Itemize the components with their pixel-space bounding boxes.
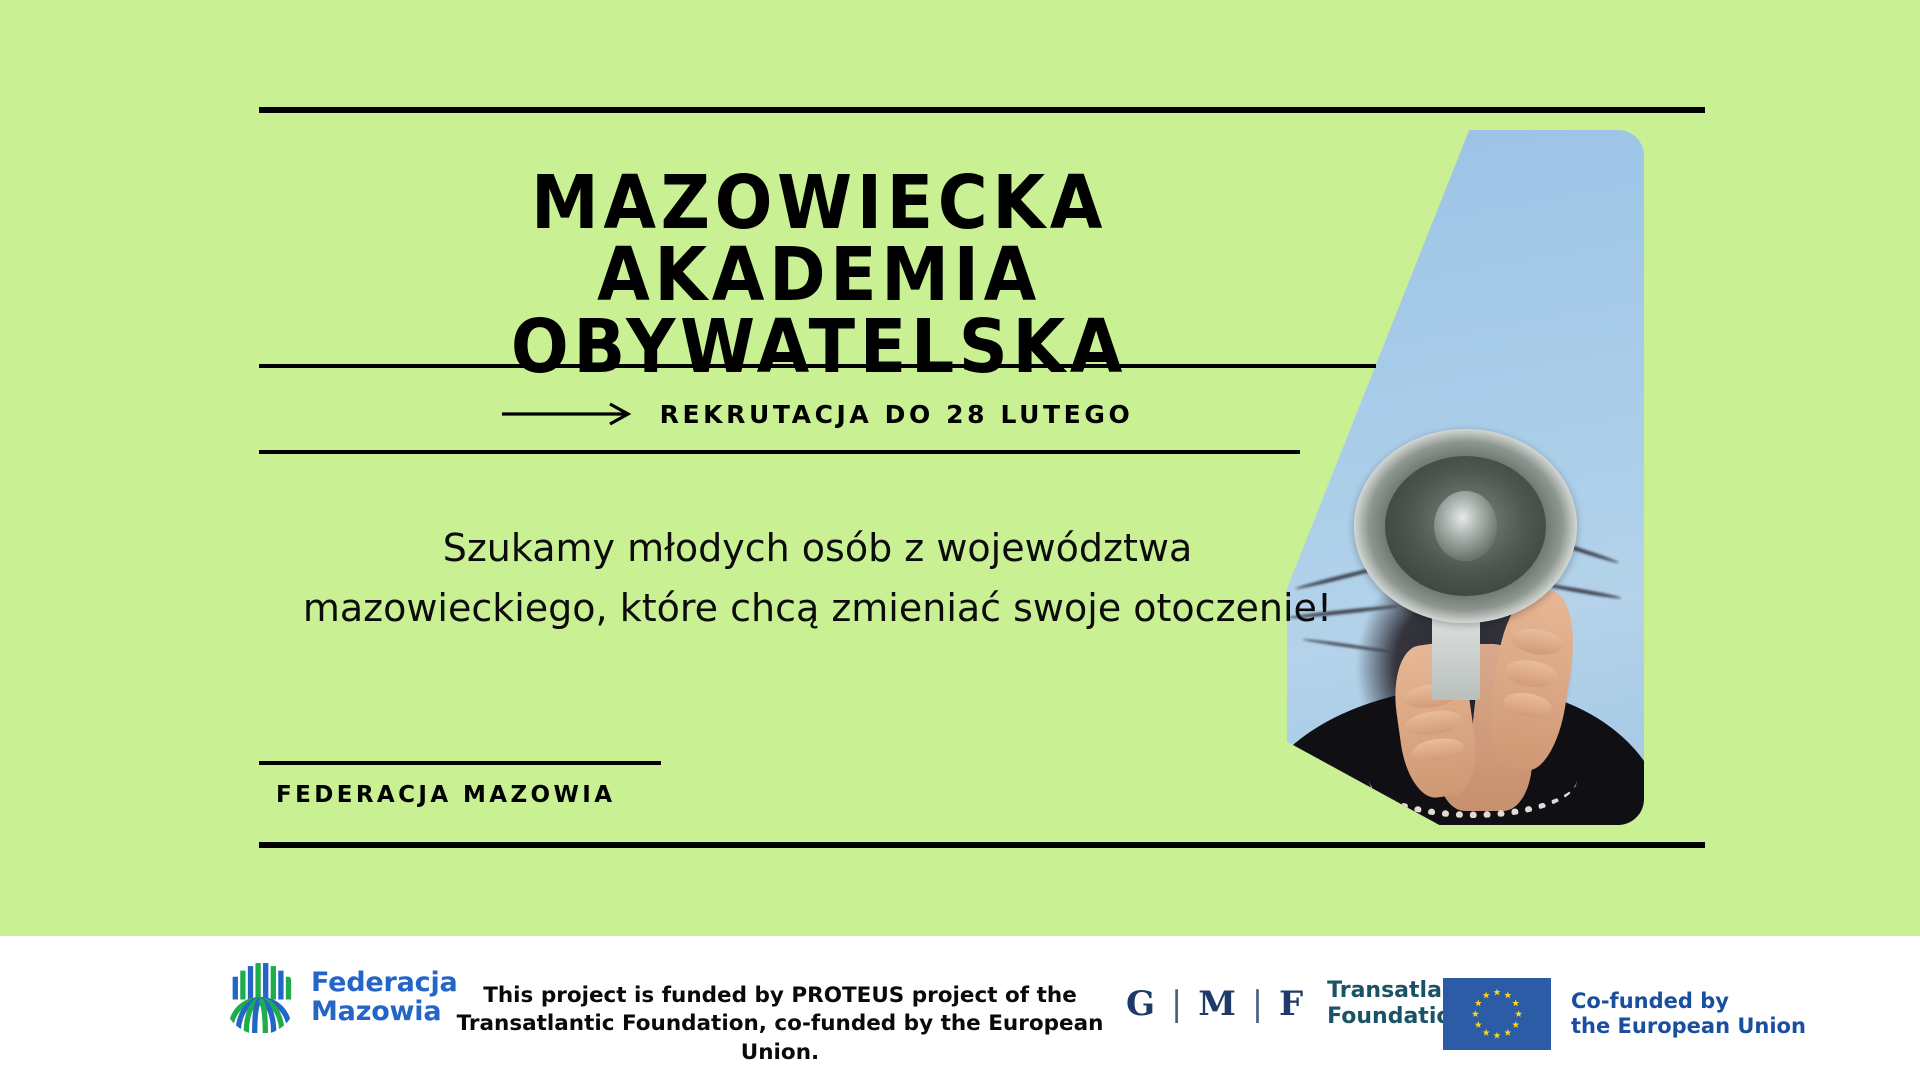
divider-bottom xyxy=(259,842,1705,848)
divider-above-organisation xyxy=(259,761,661,765)
poster-canvas: MAZOWIECKA AKADEMIA OBYWATELSKA REKRUTAC… xyxy=(0,0,1920,1080)
page-title: MAZOWIECKA AKADEMIA OBYWATELSKA xyxy=(304,168,1334,383)
gmf-letter-g: G xyxy=(1126,984,1157,1024)
eu-wordmark: Co-funded by the European Union xyxy=(1571,989,1806,1039)
european-union-logo: Co-funded by the European Union xyxy=(1443,978,1806,1050)
body-copy: Szukamy młodych osób z województwa mazow… xyxy=(300,518,1335,638)
gmf-letters: G | M | F xyxy=(1126,984,1305,1024)
finger xyxy=(1405,708,1464,739)
hero-panel: MAZOWIECKA AKADEMIA OBYWATELSKA REKRUTAC… xyxy=(0,0,1920,936)
megaphone-hub xyxy=(1434,491,1496,561)
federacja-mazowia-tree-mark-icon xyxy=(222,960,298,1036)
federacja-mazowia-logo: Federacja Mazowia xyxy=(222,960,458,1036)
subtitle-text: REKRUTACJA DO 28 LUTEGO xyxy=(660,400,1134,429)
divider-top xyxy=(259,107,1705,113)
gmf-separator: | xyxy=(1171,984,1184,1024)
footer-bar: Federacja Mazowia This project is funded… xyxy=(0,936,1920,1080)
gmf-separator: | xyxy=(1252,984,1265,1024)
european-union-flag-icon xyxy=(1443,978,1551,1050)
finger xyxy=(1501,689,1553,720)
divider-below-subtitle xyxy=(259,450,1300,454)
finger xyxy=(1503,657,1560,690)
gmf-logo: G | M | F Transatlantic Foundation xyxy=(1126,978,1489,1029)
gmf-letter-f: F xyxy=(1279,984,1305,1024)
subtitle-row: REKRUTACJA DO 28 LUTEGO xyxy=(259,390,1376,438)
federacja-mazowia-wordmark: Federacja Mazowia xyxy=(311,969,458,1026)
funding-statement: This project is funded by PROTEUS projec… xyxy=(455,982,1105,1067)
finger xyxy=(1510,625,1565,658)
finger xyxy=(1412,735,1467,763)
organisation-name: FEDERACJA MAZOWIA xyxy=(276,782,615,808)
gmf-letter-m: M xyxy=(1198,984,1238,1024)
long-right-arrow-icon xyxy=(502,402,634,426)
megaphone-cone xyxy=(1354,429,1577,624)
